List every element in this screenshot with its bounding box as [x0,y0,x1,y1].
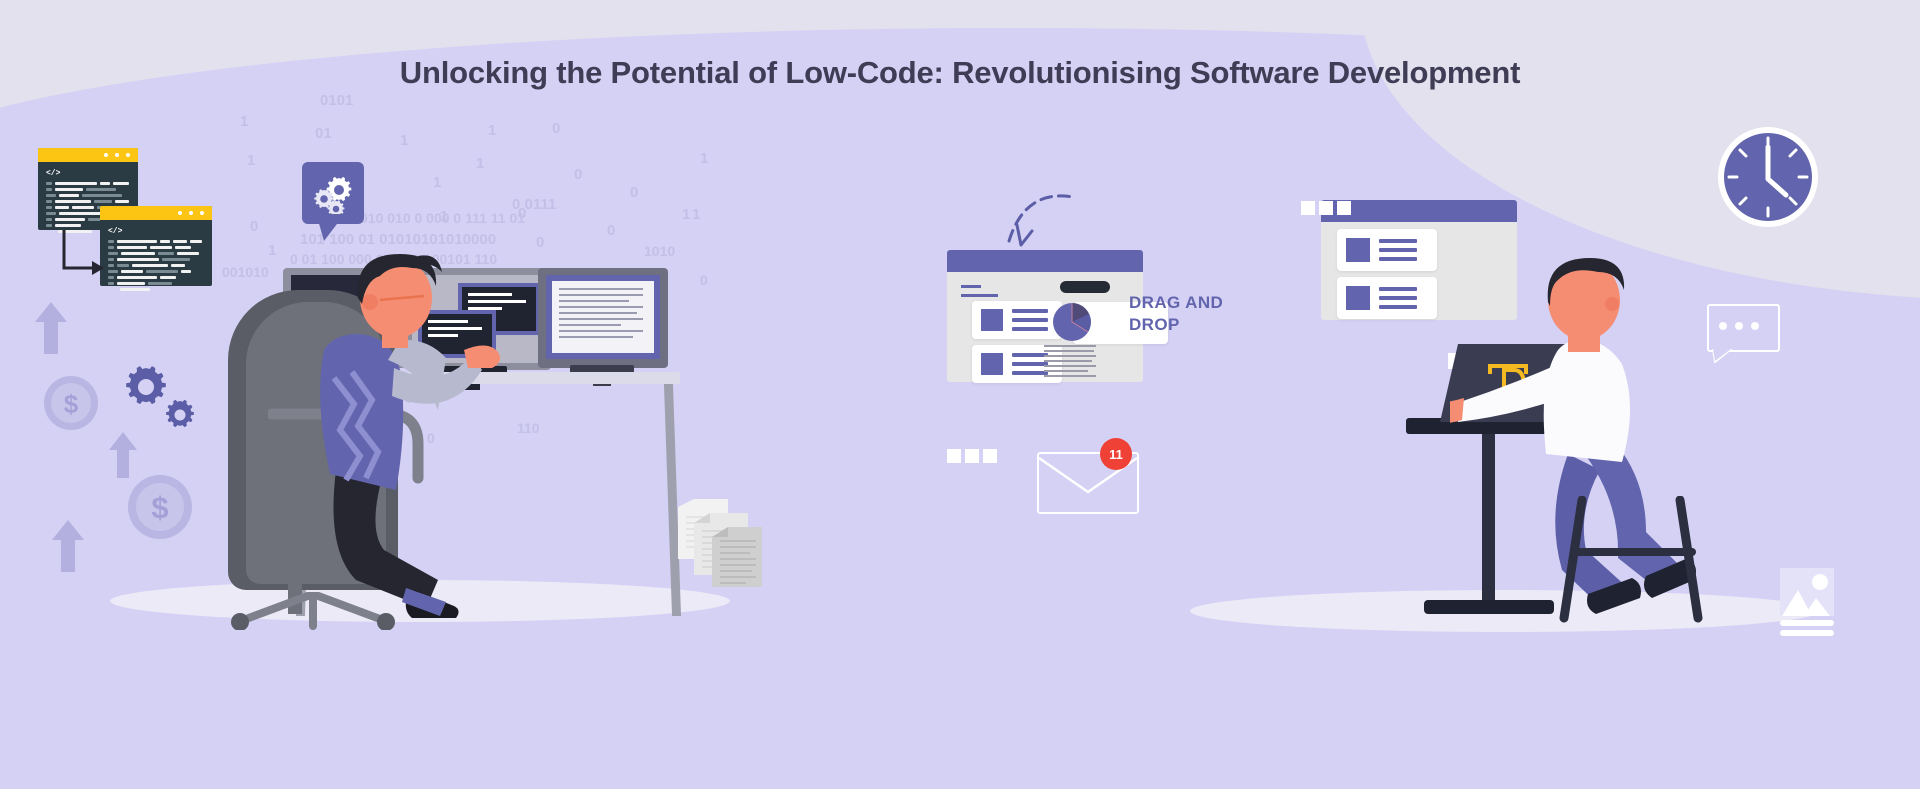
code-window-front[interactable]: </> [100,206,212,286]
dollar-coin-icon-2: $ [127,474,193,540]
panel-text-lines [1044,345,1096,377]
up-arrow-icon-2 [107,430,139,480]
card-text-lines [1379,287,1417,309]
gears-speech-bubble [302,162,364,240]
card-text-lines [1012,309,1048,331]
document-page-3 [712,527,762,587]
drag-and-drop-line-1: DRAG AND [1129,292,1223,314]
list-item[interactable] [1337,229,1437,271]
code-window-titlebar-2 [100,206,212,220]
up-arrow-icon-3 [50,518,86,574]
card-thumbnail [1346,238,1370,262]
card-thumbnail [1346,286,1370,310]
code-tag-icon-2: </> [108,227,204,236]
developer-person-left [296,250,526,620]
monitor-3-doc [552,281,654,353]
status-badge: 11 [1100,438,1132,470]
dark-pill-button[interactable] [1060,281,1110,293]
documents-stack [676,497,766,589]
clock-icon [1716,125,1820,229]
hero-illustration: Unlocking the Potential of Low-Code: Rev… [0,0,1920,789]
svg-text:$: $ [64,389,79,419]
list-item[interactable] [1337,277,1437,319]
code-window-titlebar [38,148,138,162]
drag-and-drop-line-2: DROP [1129,314,1223,336]
curved-drag-arrow-icon [1003,183,1093,253]
card-text-lines [1379,239,1417,261]
flow-arrow-icon [60,228,106,278]
svg-text:$: $ [151,490,168,525]
card-text-lines [1012,353,1048,375]
builder-panel-header [947,250,1143,272]
dollar-coin-icon: $ [43,375,99,431]
up-arrow-icon [33,300,69,356]
pie-chart-icon [1052,302,1092,342]
builder-panel-title-lines [961,285,998,297]
stool-legs [1556,496,1716,624]
page-title: Unlocking the Potential of Low-Code: Rev… [0,55,1920,91]
card-thumbnail [981,353,1003,375]
gear-small-icon [162,398,198,434]
badge-count: 11 [1109,447,1123,462]
gears-icon [313,172,355,214]
drag-and-drop-label: DRAG AND DROP [1129,292,1223,337]
code-tag-icon: </> [46,169,130,178]
card-thumbnail [981,309,1003,331]
image-placeholder-icon [1780,568,1834,640]
list-item[interactable] [972,301,1062,339]
